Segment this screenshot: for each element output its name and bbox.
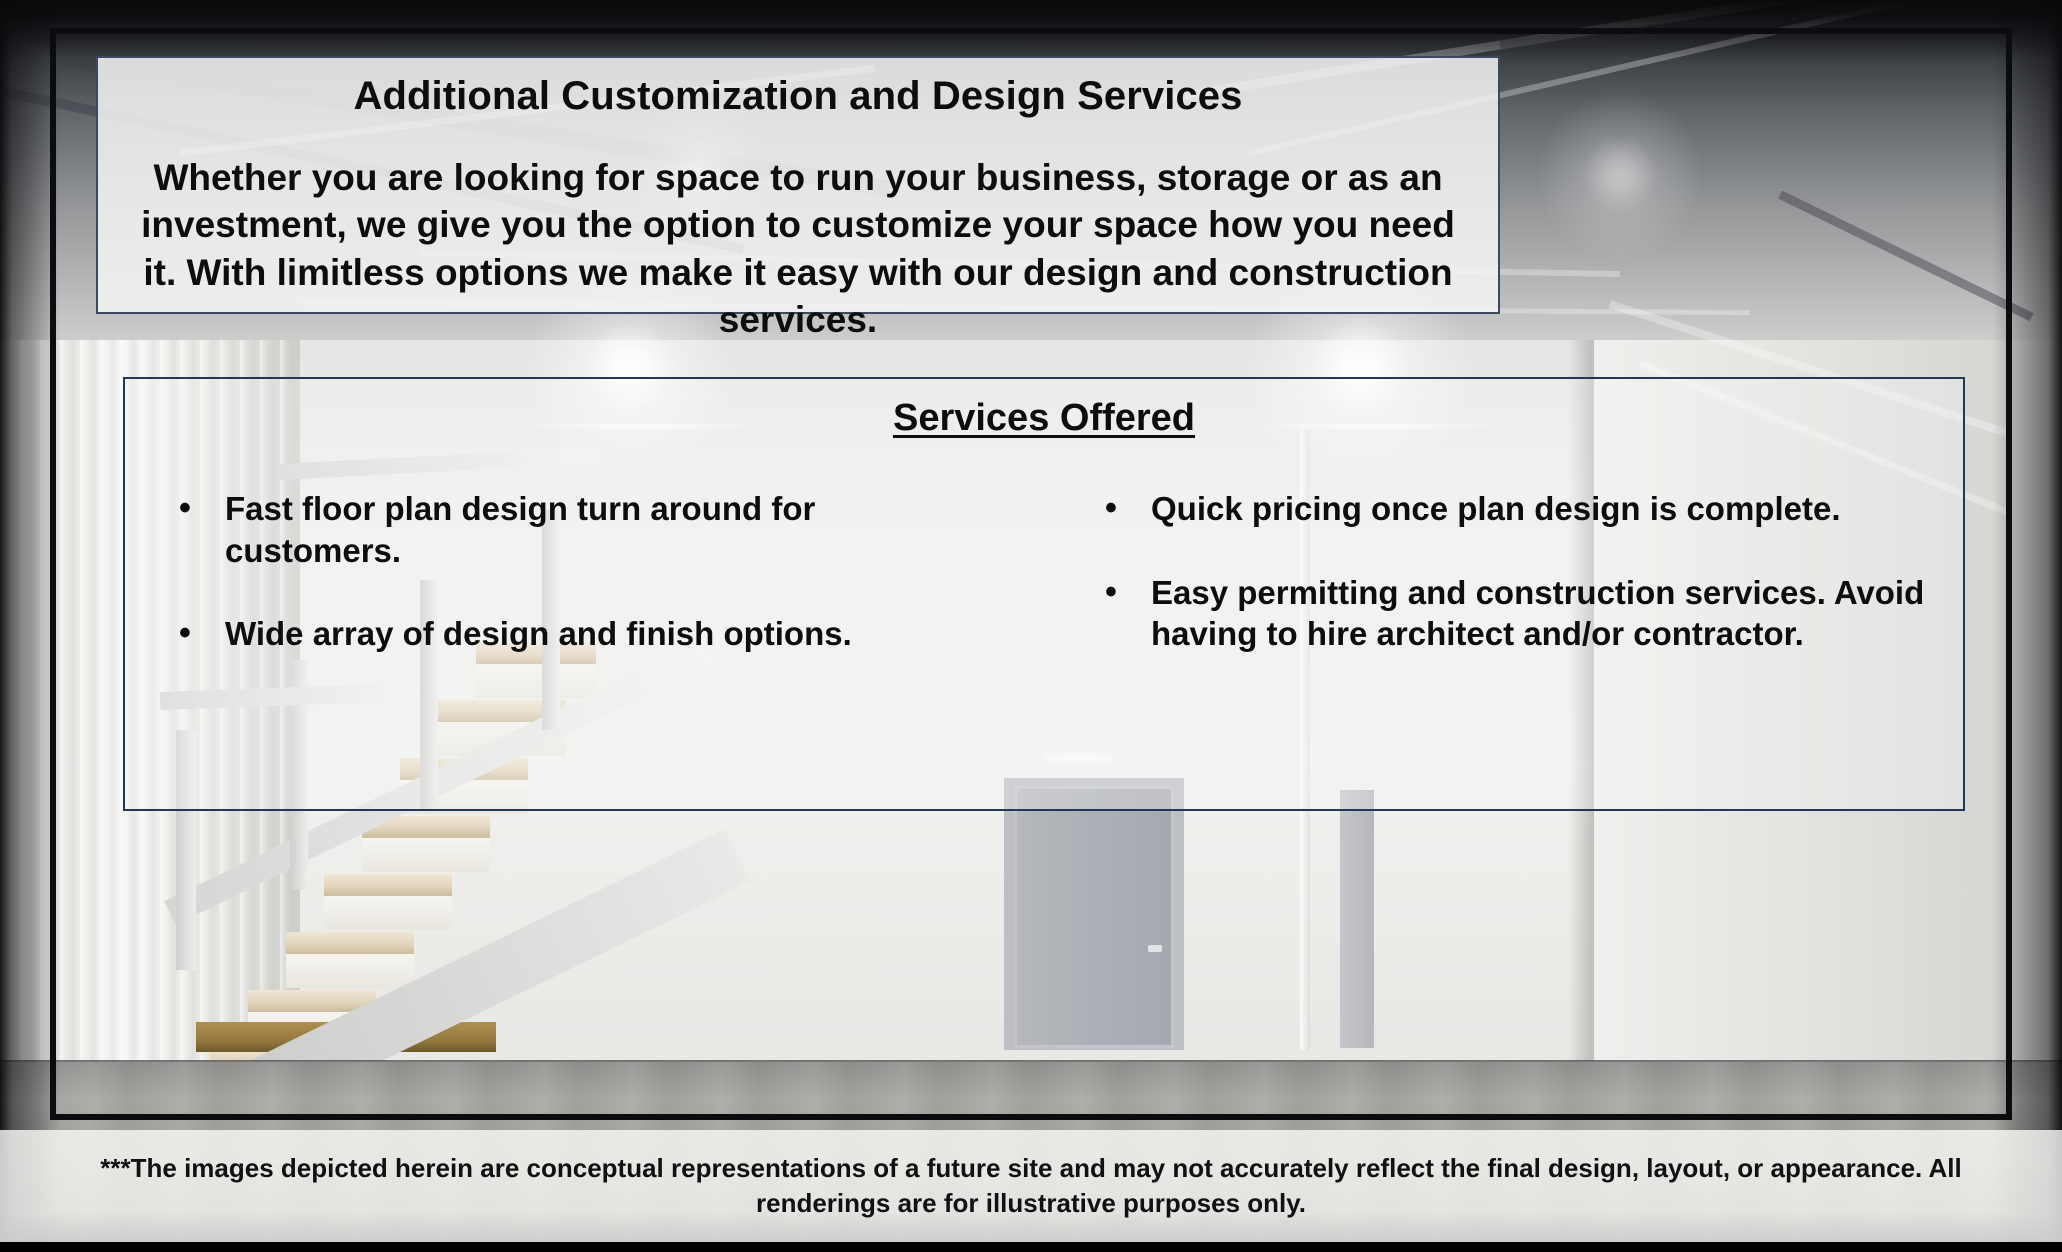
list-item: • Quick pricing once plan design is comp… — [1105, 488, 1927, 530]
list-item-text: Fast floor plan design turn around for c… — [225, 488, 991, 571]
footer-disclaimer-bar: ***The images depicted herein are concep… — [0, 1130, 2062, 1242]
list-item-text: Easy permitting and construction service… — [1151, 572, 1927, 655]
footer-bottom-rule — [0, 1242, 2062, 1252]
list-item-text: Wide array of design and finish options. — [225, 613, 852, 655]
services-heading: Services Offered — [125, 397, 1963, 440]
slide-canvas: Additional Customization and Design Serv… — [0, 0, 2062, 1252]
bullet-icon: • — [1105, 488, 1151, 529]
bullet-icon: • — [1105, 572, 1151, 613]
services-panel: Services Offered • Fast floor plan desig… — [123, 377, 1965, 811]
page-title: Additional Customization and Design Serv… — [124, 72, 1472, 120]
disclaimer-text: ***The images depicted herein are concep… — [51, 1151, 2011, 1221]
header-panel: Additional Customization and Design Serv… — [96, 56, 1500, 314]
list-item: • Easy permitting and construction servi… — [1105, 572, 1927, 655]
bullet-icon: • — [179, 613, 225, 654]
header-description: Whether you are looking for space to run… — [124, 154, 1472, 343]
list-item: • Fast floor plan design turn around for… — [179, 488, 991, 571]
services-column-left: • Fast floor plan design turn around for… — [179, 488, 1053, 655]
bullet-icon: • — [179, 488, 225, 529]
list-item-text: Quick pricing once plan design is comple… — [1151, 488, 1841, 530]
services-columns: • Fast floor plan design turn around for… — [125, 488, 1963, 655]
list-item: • Wide array of design and finish option… — [179, 613, 991, 655]
services-column-right: • Quick pricing once plan design is comp… — [1053, 488, 1927, 655]
